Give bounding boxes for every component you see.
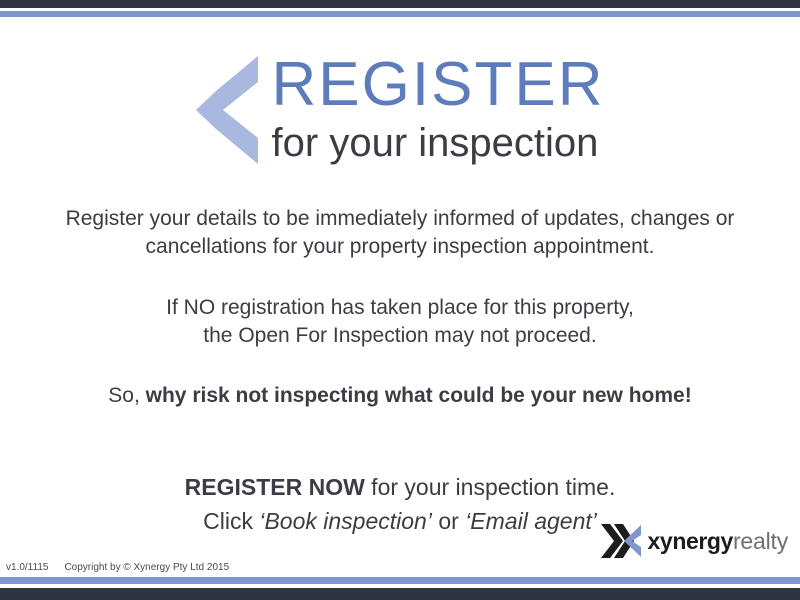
warning-paragraph: If NO registration has taken place for t… [50, 294, 750, 349]
brand-name-bold: xynergy [648, 528, 733, 554]
bottom-dark-bar [0, 588, 800, 600]
status-bar: v1.0/1115 Copyright by © Xynergy Pty Ltd… [6, 562, 229, 573]
click-prefix: Click [203, 508, 259, 534]
warning-line-2: the Open For Inspection may not proceed. [203, 324, 596, 347]
version-label: v1.0/1115 [6, 562, 48, 573]
chevron-left-icon [196, 56, 258, 164]
page-title: REGISTER [272, 54, 605, 116]
click-joiner: or [432, 508, 465, 534]
brand-wordmark: xynergyrealty [648, 530, 788, 553]
brand-logo: xynergyrealty [601, 524, 788, 558]
book-inspection-option: ‘Book inspection’ [259, 508, 432, 534]
cta-rest: for your inspection time. [365, 474, 616, 500]
persuasion-paragraph: So, why risk not inspecting what could b… [30, 382, 770, 410]
brand-name-light: realty [733, 528, 788, 554]
persuasion-prefix: So, [108, 384, 145, 407]
warning-line-1: If NO registration has taken place for t… [166, 296, 634, 319]
top-accent-bar [0, 11, 800, 17]
body-content: Register your details to be immediately … [0, 205, 800, 536]
xynergy-x-logo-icon [601, 524, 641, 558]
copyright-label: Copyright by © Xynergy Pty Ltd 2015 [64, 562, 229, 573]
cta-emphasis: REGISTER NOW [185, 474, 365, 500]
persuasion-emphasis: why risk not inspecting what could be yo… [146, 384, 692, 407]
email-agent-option: ‘Email agent’ [465, 508, 597, 534]
top-dark-bar [0, 0, 800, 8]
header-text-block: REGISTER for your inspection [272, 44, 605, 166]
cta-paragraph: REGISTER NOW for your inspection time. [30, 472, 770, 502]
bottom-accent-bar [0, 577, 800, 584]
page-subtitle: for your inspection [272, 120, 599, 166]
page-header: REGISTER for your inspection [0, 44, 800, 166]
intro-paragraph: Register your details to be immediately … [50, 205, 750, 260]
